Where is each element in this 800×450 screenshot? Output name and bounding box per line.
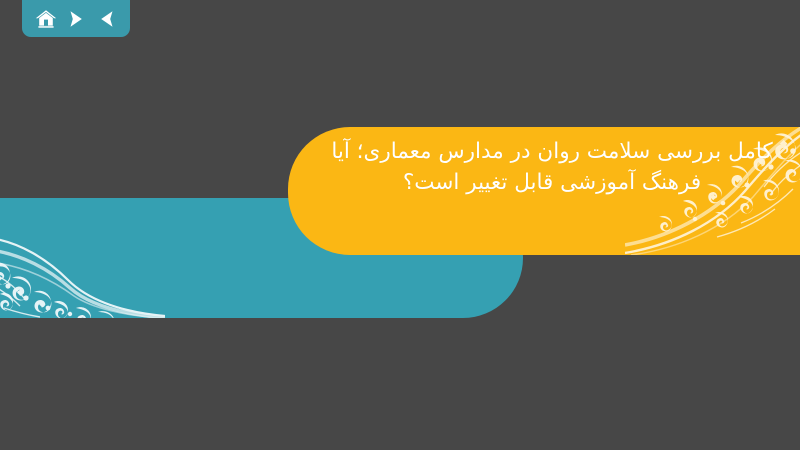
forward-button[interactable] bbox=[63, 6, 89, 32]
slide-canvas: کامل بررسی سلامت روان در مدارس معماری؛ آ… bbox=[0, 0, 800, 450]
arabesque-ornament-icon bbox=[0, 198, 165, 318]
navigation-bar bbox=[22, 0, 130, 37]
slide-title: کامل بررسی سلامت روان در مدارس معماری؛ آ… bbox=[312, 136, 792, 198]
back-button[interactable] bbox=[93, 6, 119, 32]
forward-icon bbox=[68, 10, 85, 28]
home-button[interactable] bbox=[33, 6, 59, 32]
home-icon bbox=[35, 9, 57, 29]
back-icon bbox=[98, 10, 115, 28]
